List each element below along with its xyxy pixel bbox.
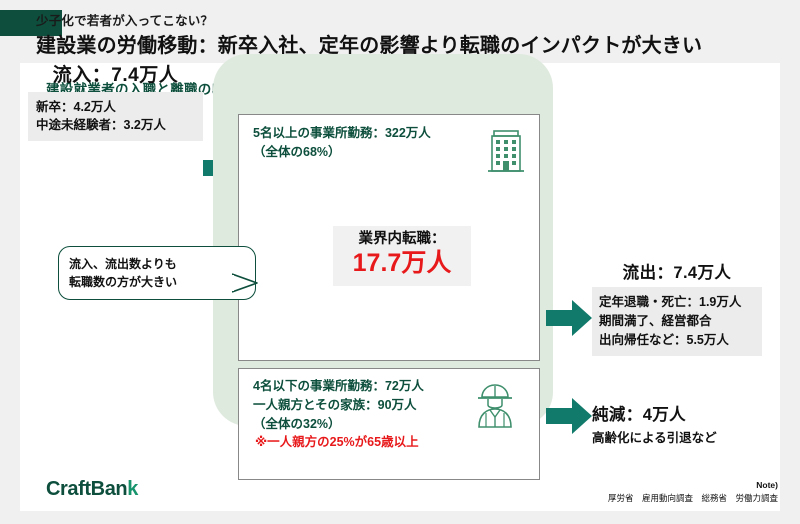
inflow-title: 流入：7.4万人 [28, 60, 203, 87]
construction-worker-icon [473, 381, 517, 429]
net-decrease-title: 純減：4万人 [592, 401, 782, 425]
small-firms-line2: 一人親方とその家族：90万人 [253, 396, 424, 415]
aging-warning-text: ※一人親方の25%が65歳以上 [255, 431, 419, 450]
outflow-title: 流出：7.4万人 [592, 259, 762, 283]
outflow-block: 流出：7.4万人 定年退職・死亡：1.9万人 期間満了、経営都合 出向帰任など：… [592, 259, 762, 356]
large-firms-line2: （全体の68%） [253, 143, 431, 162]
large-firms-text: 5名以上の事業所勤務：322万人 （全体の68%） [253, 124, 431, 162]
callout-tail-icon [232, 272, 258, 294]
outflow-detail-line2: 期間満了、経営都合 [599, 312, 754, 331]
header-kicker: 少子化で若者が入ってこない？ [36, 10, 213, 29]
logo-accent-text: k [127, 478, 138, 500]
note-label: Note) [756, 480, 778, 490]
inflow-detail-line2: 中途未経験者：3.2万人 [36, 116, 195, 134]
callout-line2: 転職数の方が大きい [69, 273, 245, 291]
callout-line1: 流入、流出数よりも [69, 255, 245, 273]
craftbank-logo: CraftBank [46, 478, 138, 501]
inflow-detail: 新卒：4.2万人 中途未経験者：3.2万人 [28, 92, 203, 141]
outflow-detail-line1: 定年退職・死亡：1.9万人 [599, 293, 754, 312]
net-decrease-arrow-icon [546, 398, 592, 434]
small-firms-line1: 4名以下の事業所勤務：72万人 [253, 377, 424, 396]
outflow-arrow-icon [546, 300, 592, 336]
logo-main-text: CraftBan [46, 478, 127, 500]
outflow-detail: 定年退職・死亡：1.9万人 期間満了、経営都合 出向帰任など：5.5万人 [592, 287, 762, 356]
net-decrease-block: 純減：4万人 高齢化による引退など [592, 401, 782, 446]
large-firms-line1: 5名以上の事業所勤務：322万人 [253, 124, 431, 143]
small-firms-box: 4名以下の事業所勤務：72万人 一人親方とその家族：90万人 （全体の32%） … [238, 368, 540, 480]
outflow-detail-line3: 出向帰任など：5.5万人 [599, 331, 754, 350]
source-note: 厚労省 雇用動向調査 総務省 労働力調査 [608, 492, 778, 504]
small-firms-text: 4名以下の事業所勤務：72万人 一人親方とその家族：90万人 （全体の32%） [253, 377, 424, 433]
net-decrease-subtitle: 高齢化による引退など [592, 427, 782, 446]
inflow-block: 流入：7.4万人 新卒：4.2万人 中途未経験者：3.2万人 [28, 60, 203, 141]
infographic-page: 少子化で若者が入ってこない？ 建設業の労働移動：新卒入社、定年の影響より転職のイ… [0, 0, 800, 524]
internal-transfer-figure: 業界内転職： 17.7万人 [333, 226, 471, 286]
office-building-icon [485, 125, 527, 177]
callout-bubble: 流入、流出数よりも 転職数の方が大きい [58, 246, 256, 300]
inflow-detail-line1: 新卒：4.2万人 [36, 98, 195, 116]
internal-transfer-label: 業界内転職： [343, 231, 461, 248]
internal-transfer-value: 17.7万人 [343, 249, 461, 278]
